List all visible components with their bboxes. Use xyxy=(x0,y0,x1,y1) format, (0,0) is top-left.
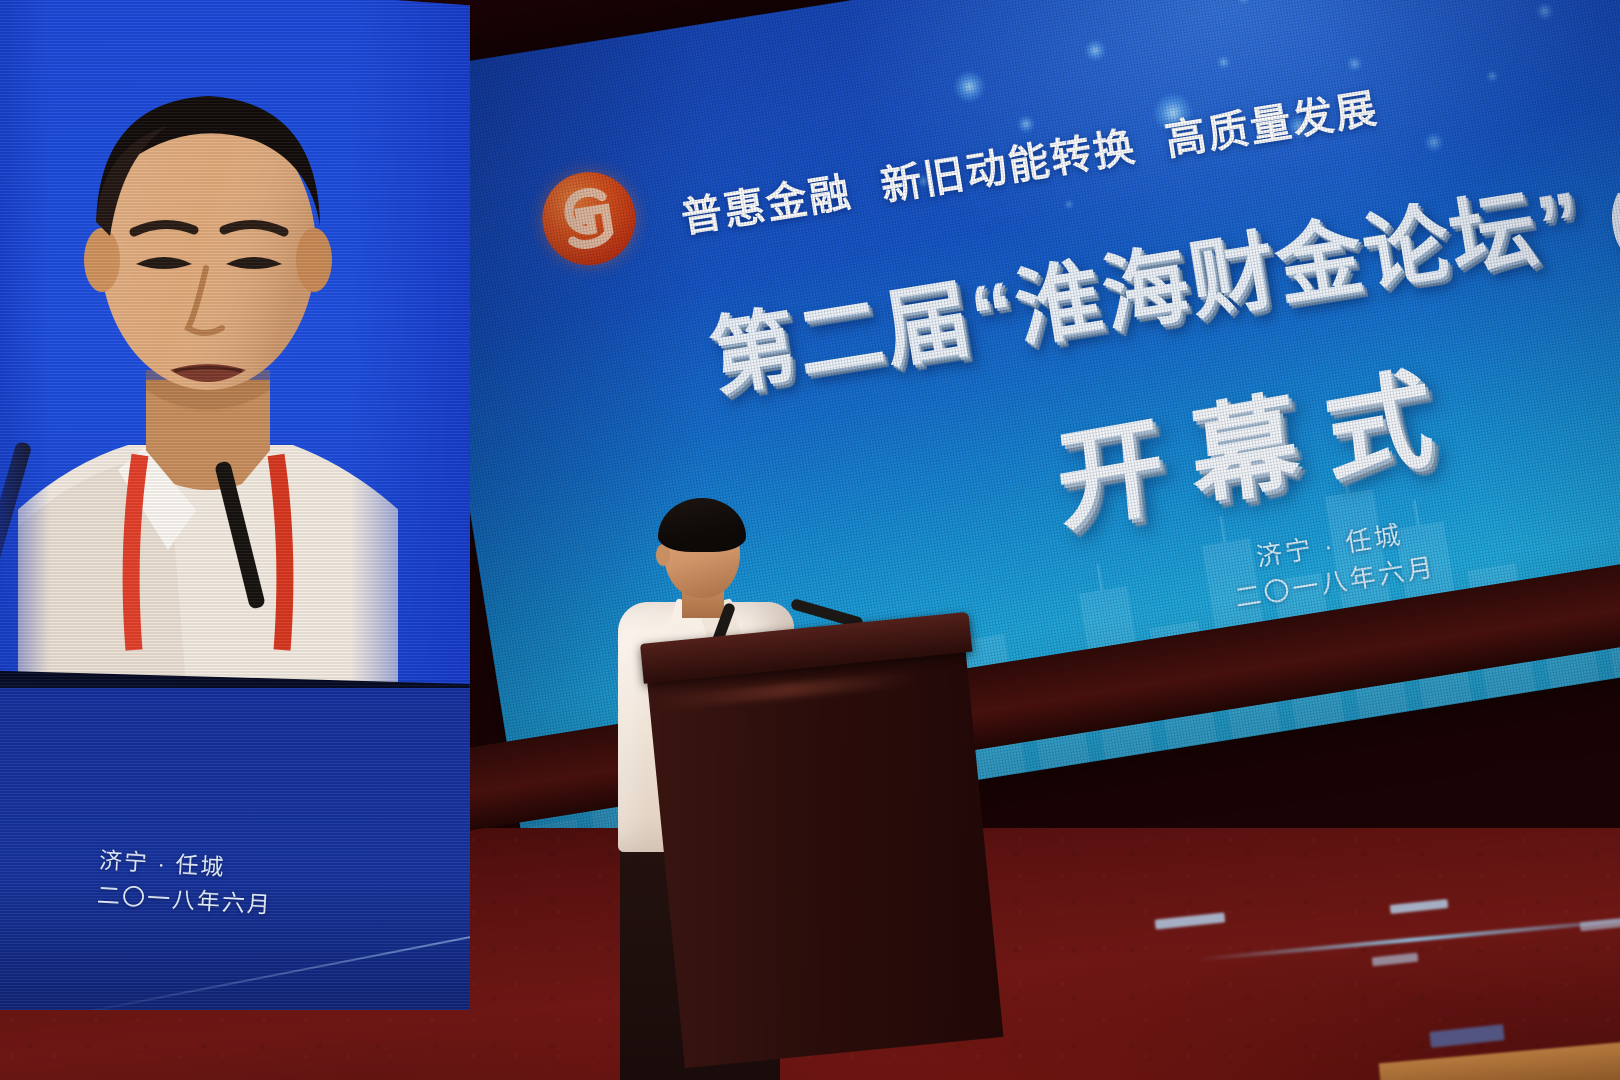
bokeh-particle-11 xyxy=(1063,199,1074,210)
presenter-hair xyxy=(658,498,746,552)
bokeh-particle-5 xyxy=(1216,54,1232,70)
bokeh-particle-3 xyxy=(1083,38,1108,63)
logo-g-glyph xyxy=(551,178,627,258)
speaking-podium xyxy=(640,644,970,1064)
bokeh-particle-8 xyxy=(1422,131,1445,154)
bokeh-particle-9 xyxy=(1485,69,1499,83)
skyline-antenna xyxy=(1096,564,1103,590)
portrait-illustration xyxy=(18,0,398,705)
bokeh-particle-12 xyxy=(1534,1,1555,22)
side-led-wall: 济宁 · 任城 二〇一八年六月 xyxy=(0,0,470,1010)
bokeh-particle-13 xyxy=(1237,0,1251,5)
forum-logo-icon xyxy=(536,165,642,271)
speaker-closeup-portrait xyxy=(18,0,398,705)
feed-left-fringe xyxy=(0,0,50,705)
side-screen-place-date: 济宁 · 任城 二〇一八年六月 xyxy=(96,843,275,922)
feed-right-fringe xyxy=(350,0,470,705)
side-screen-lower-panel xyxy=(0,688,470,1010)
live-camera-feed xyxy=(0,0,470,705)
subtitle-seg-2: 新旧动能转换 xyxy=(877,123,1139,209)
main-title-year: (2018) xyxy=(1602,150,1620,260)
conference-stage-photo: 普惠金融新旧动能转换高质量发展 第二届“淮海财金论坛” (2018) 开幕式 济… xyxy=(0,0,1620,1080)
bokeh-particle-1 xyxy=(951,68,988,105)
subtitle-seg-1: 普惠金融 xyxy=(678,169,855,241)
bokeh-particle-7 xyxy=(1345,55,1363,73)
subtitle-seg-3: 高质量发展 xyxy=(1162,85,1382,164)
